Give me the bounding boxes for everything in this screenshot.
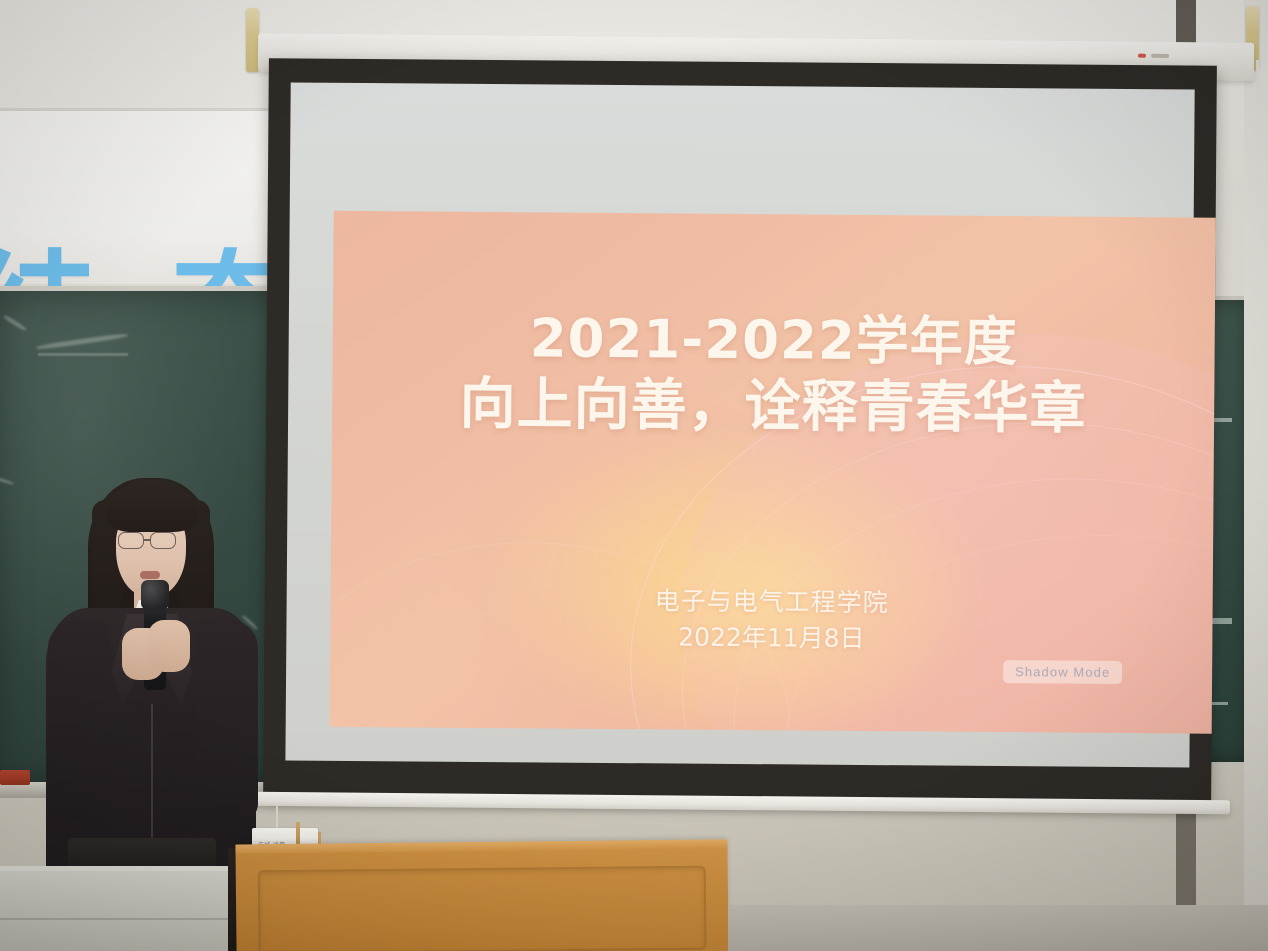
- side-desk-edge: [0, 866, 238, 871]
- projector-screen-frame: 2021-2022学年度 向上向善，诠释青春华章 电子与电气工程学院 2022年…: [263, 58, 1217, 803]
- chalkboard-eraser: [0, 770, 30, 785]
- classroom-photo: 结 奋: [0, 0, 1268, 951]
- projector-screen-surface: 2021-2022学年度 向上向善，诠释青春华章 电子与电气工程学院 2022年…: [285, 82, 1194, 767]
- lectern-front-panel: [258, 866, 707, 951]
- presenter-mouth: [140, 571, 160, 579]
- presenter-glasses-left-lens: [118, 532, 144, 549]
- presenter-glasses-bridge: [144, 539, 150, 541]
- floor: [728, 905, 1268, 951]
- roller-vent: [1151, 54, 1169, 58]
- side-desk: [0, 866, 238, 951]
- slide-title-line-1: 2021-2022学年度: [332, 307, 1214, 376]
- presenter-glasses-right-lens: [150, 532, 176, 549]
- slide-subtitle: 电子与电气工程学院 2022年11月8日: [330, 581, 1213, 660]
- presenter: [36, 470, 266, 890]
- microphone-head: [141, 580, 169, 610]
- slide-subtitle-date: 2022年11月8日: [330, 617, 1212, 660]
- slide-title: 2021-2022学年度 向上向善，诠释青春华章: [332, 307, 1215, 445]
- presenter-arm-left: [48, 620, 110, 820]
- side-desk-seam: [0, 918, 238, 920]
- presenter-arm-right: [196, 620, 258, 820]
- lectern: [235, 839, 728, 951]
- shadow-mode-watermark: Shadow Mode: [1003, 660, 1122, 684]
- roller-indicator-led: [1138, 54, 1146, 58]
- presentation-slide: 2021-2022学年度 向上向善，诠释青春华章 电子与电气工程学院 2022年…: [330, 211, 1216, 734]
- presenter-hand-right: [148, 620, 190, 672]
- slide-title-line-2: 向上向善，诠释青春华章: [332, 369, 1215, 444]
- wall-signage-band: 结 奋: [0, 108, 300, 284]
